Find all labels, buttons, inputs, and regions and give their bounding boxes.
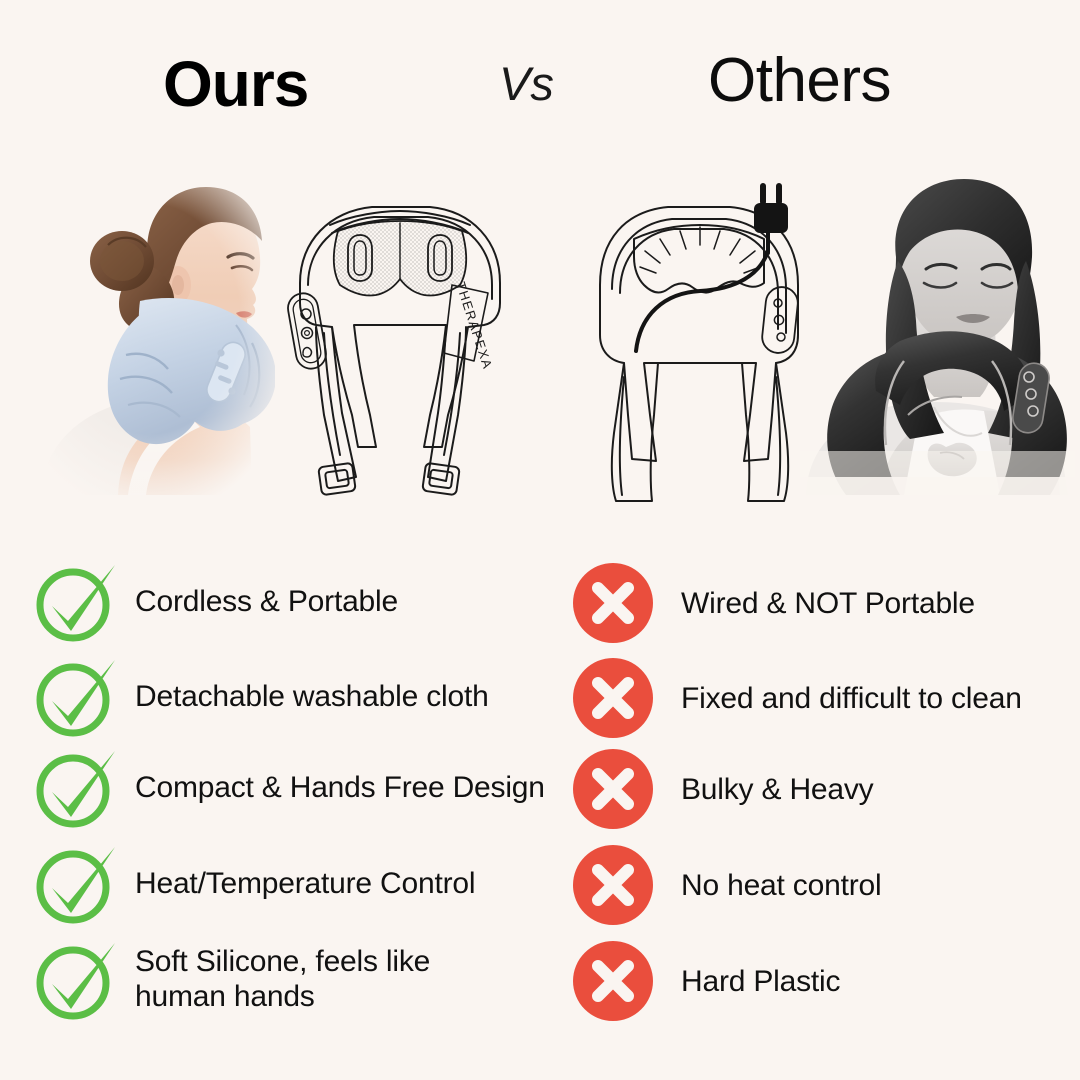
list-item: Soft Silicone, feels like human hands (33, 934, 553, 1026)
feature-comparison-lists: Cordless & Portable Detachable washable … (0, 520, 1080, 1080)
list-item-label: Compact & Hands Free Design (135, 771, 545, 806)
list-item-label: Detachable washable cloth (135, 680, 489, 715)
list-item: Heat/Temperature Control (33, 838, 553, 930)
cross-circle-icon (573, 939, 659, 1025)
comparison-infographic: Ours Vs Others (0, 0, 1080, 1080)
list-item: Wired & NOT Portable (573, 558, 1073, 650)
list-item: Compact & Hands Free Design (33, 742, 553, 834)
list-item-label: Cordless & Portable (135, 585, 398, 620)
list-item-label: Soft Silicone, feels like human hands (135, 945, 430, 1015)
list-item-label: Fixed and difficult to clean (681, 682, 1022, 717)
header-ours-title: Ours (163, 52, 308, 116)
check-circle-icon (33, 559, 119, 645)
cross-circle-icon (573, 656, 659, 742)
header: Ours Vs Others (0, 0, 1080, 160)
cross-circle-icon (573, 843, 659, 929)
check-circle-icon (33, 841, 119, 927)
list-item-label: Hard Plastic (681, 965, 840, 1000)
cross-circle-icon (573, 747, 659, 833)
check-circle-icon (33, 654, 119, 740)
list-item: No heat control (573, 840, 1073, 932)
list-item: Detachable washable cloth (33, 651, 553, 743)
header-vs-label: Vs (499, 60, 554, 107)
list-item-label: Wired & NOT Portable (681, 587, 975, 622)
list-item: Hard Plastic (573, 936, 1073, 1028)
list-item: Fixed and difficult to clean (573, 653, 1073, 745)
list-item: Bulky & Heavy (573, 744, 1073, 836)
check-circle-icon (33, 937, 119, 1023)
list-item-label: Bulky & Heavy (681, 773, 873, 808)
cross-circle-icon (573, 561, 659, 647)
list-item: Cordless & Portable (33, 556, 553, 648)
list-item-label: Heat/Temperature Control (135, 867, 475, 902)
hero-imagery: THERAPEXA (0, 165, 1080, 505)
header-others-title: Others (708, 50, 891, 112)
check-circle-icon (33, 745, 119, 831)
list-item-label: No heat control (681, 869, 881, 904)
ours-product-photo (25, 175, 276, 495)
